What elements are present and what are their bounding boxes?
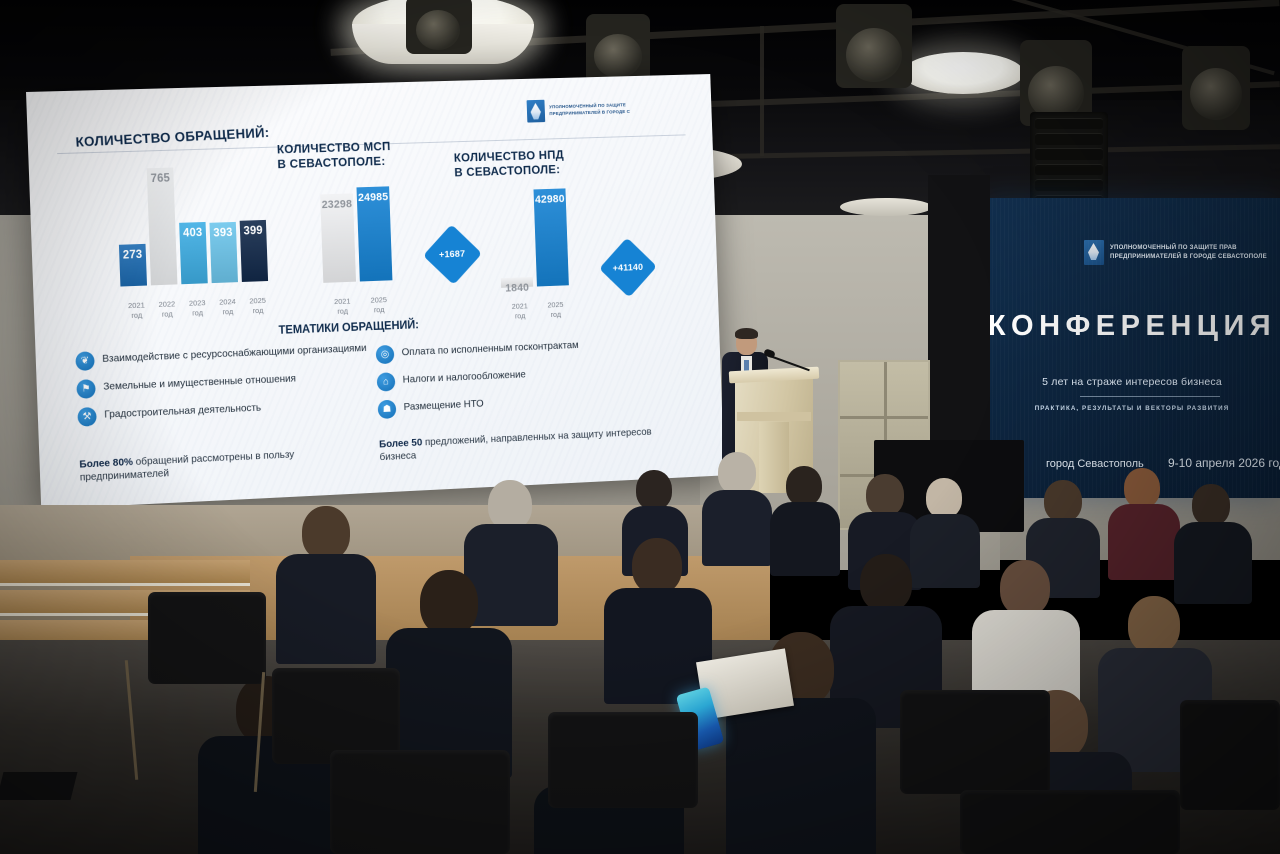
audience-body	[464, 524, 558, 626]
stage-light-5	[1182, 46, 1250, 130]
bar-2021: 1840	[501, 277, 533, 288]
chart-msp: 2329824985 2021год2025год	[320, 183, 440, 316]
chair[interactable]	[548, 712, 698, 808]
audience-body	[276, 554, 376, 664]
bar-xlabel: 2021год	[324, 296, 361, 316]
chart2-title-line2: В СЕВАСТОПОЛЕ:	[277, 154, 391, 172]
topic-item: ⚒Градостроительная деятельность	[77, 394, 399, 427]
led-title: КОНФЕРЕНЦИЯ	[984, 310, 1280, 343]
footnote-left: Более 80% обращений рассмотрены в пользу…	[79, 445, 363, 485]
tax-bank-icon: ⌂	[377, 372, 396, 391]
audience-head	[420, 570, 478, 636]
speaker-cell	[1035, 118, 1104, 130]
floor-mat	[0, 772, 77, 800]
stage-step	[0, 560, 250, 586]
topics-column-left: ❦Взаимодействие с ресурсоснабжающими орг…	[75, 339, 399, 436]
bar-value: 42980	[534, 193, 566, 206]
stage-light-2	[586, 14, 650, 84]
land-plot-icon: ⚑	[76, 379, 95, 399]
audience-body	[1108, 504, 1180, 580]
led-logo-line1: УПОЛНОМОЧЕННЫЙ ПО ЗАЩИТЕ ПРАВ	[1110, 244, 1267, 252]
bar-xlabel: 2025год	[537, 300, 573, 320]
payment-coin-icon: ◎	[376, 345, 395, 364]
ombudsman-emblem-icon	[526, 100, 545, 123]
topics-title: ТЕМАТИКИ ОБРАЩЕНИЙ:	[278, 319, 419, 336]
chair[interactable]	[330, 750, 510, 854]
stage-light-2-lens	[594, 34, 642, 78]
stage-light-5-lens	[1190, 68, 1242, 120]
ombudsman-emblem-icon	[1084, 240, 1104, 265]
topic-item: ☗Размещение НТО	[378, 388, 661, 419]
audience-body	[726, 698, 876, 854]
audience-head	[1128, 596, 1180, 654]
bar-value: 1840	[501, 282, 533, 295]
topic-label: Земельные и имущественные отношения	[103, 371, 296, 394]
kiosk-icon: ☗	[378, 400, 397, 419]
chart2-xlabels: 2021год2025год	[324, 295, 398, 316]
bar-xlabel: 2021год	[502, 301, 538, 321]
audience-head	[1192, 484, 1230, 526]
led-banner-screen: УПОЛНОМОЧЕННЫЙ ПО ЗАЩИТЕ ПРАВ ПРЕДПРИНИМ…	[984, 198, 1280, 498]
audience-head	[926, 478, 962, 518]
bar-xlabel: 2024год	[212, 297, 243, 317]
bar-value: 273	[119, 249, 146, 262]
bar-value: 24985	[357, 191, 390, 204]
audience-head	[786, 466, 822, 506]
led-city: город Севастополь	[1046, 458, 1144, 470]
topic-item: ⌂Налоги и налогообложение	[377, 361, 660, 392]
chart3-xlabels: 2021год2025год	[502, 300, 574, 321]
audience-head	[860, 554, 912, 612]
bar-2025: 399	[240, 220, 268, 282]
topic-label: Градостроительная деятельность	[104, 400, 261, 422]
bar-value: 403	[179, 227, 206, 240]
topic-item: ◎Оплата по исполненным госконтрактам	[376, 334, 659, 364]
led-logo-text: УПОЛНОМОЧЕННЫЙ ПО ЗАЩИТЕ ПРАВ ПРЕДПРИНИМ…	[1110, 244, 1267, 260]
chair[interactable]	[148, 592, 266, 684]
topic-label: Оплата по исполненным госконтрактам	[401, 337, 578, 359]
conference-hall-scene: УПОЛНОМОЧЕННЫЙ ПО ЗАЩИТЕ ПРЕДПРИНИМАТЕЛЕ…	[0, 0, 1280, 854]
speaker-cell	[1035, 148, 1104, 160]
audience-body	[702, 490, 772, 566]
led-logo-line2: ПРЕДПРИНИМАТЕЛЕЙ В ГОРОДЕ СЕВАСТОПОЛЕ	[1110, 253, 1267, 261]
bar-xlabel: 2022год	[151, 299, 182, 319]
bar-xlabel: 2025год	[242, 296, 273, 316]
bar-2025: 42980	[534, 188, 569, 286]
chart3-title-line2: В СЕВАСТОПОЛЕ:	[454, 162, 565, 180]
chart1-bars: 273765403393399	[116, 165, 272, 287]
chart3-title: КОЛИЧЕСТВО НПД В СЕВАСТОПОЛЕ:	[454, 148, 565, 181]
ceiling-truss-vertical	[760, 26, 764, 156]
podium-shelf	[737, 412, 811, 421]
chart3-delta-value: +41140	[613, 262, 644, 274]
audience-head	[1124, 468, 1160, 508]
line-array-speaker	[1030, 112, 1108, 208]
flame-icon: ❦	[75, 351, 94, 371]
stage-light-3	[836, 4, 912, 88]
slide-logo-text: УПОЛНОМОЧЕННЫЙ ПО ЗАЩИТЕ ПРЕДПРИНИМАТЕЛЕ…	[549, 103, 630, 117]
audience-body	[770, 502, 840, 576]
audience-head	[488, 480, 532, 530]
audience-body	[910, 514, 980, 588]
led-tagline: ПРАКТИКА, РЕЗУЛЬТАТЫ И ВЕКТОРЫ РАЗВИТИЯ	[984, 405, 1280, 412]
bar-2023: 403	[179, 222, 208, 284]
footnote-right-bold: Более 50	[379, 438, 422, 451]
topics-column-right: ◎Оплата по исполненным госконтрактам⌂Нал…	[376, 334, 662, 428]
bar-value: 765	[147, 172, 174, 185]
stage-light-3-lens	[846, 28, 902, 82]
stage-light-1-lens	[416, 10, 460, 50]
chart2-title: КОЛИЧЕСТВО МСП В СЕВАСТОПОЛЕ:	[277, 139, 392, 172]
topic-label: Размещение НТО	[403, 396, 483, 414]
podium-column	[759, 422, 789, 493]
chart1-xlabels: 2021год2022год2023год2024год2025год	[121, 296, 273, 321]
led-divider	[1080, 396, 1220, 397]
chair[interactable]	[960, 790, 1180, 854]
led-logo: УПОЛНОМОЧЕННЫЙ ПО ЗАЩИТЕ ПРАВ ПРЕДПРИНИМ…	[1084, 240, 1267, 265]
speaker-hair	[735, 328, 758, 339]
ceiling-round-light-5	[840, 198, 932, 216]
chair[interactable]	[1180, 700, 1280, 810]
bar-xlabel: 2023год	[182, 298, 213, 318]
chart2-bars: 2329824985	[320, 186, 396, 283]
bar-2024: 393	[209, 222, 237, 283]
speaker-cell	[1035, 164, 1104, 176]
audience-body	[604, 588, 712, 704]
bar-value: 23298	[320, 199, 353, 212]
footnote-left-bold: Более 80%	[79, 457, 133, 470]
chart3-bars: 184042980	[498, 188, 573, 288]
audience-head	[1044, 480, 1082, 522]
speaker-cell	[1035, 133, 1104, 145]
audience-head	[718, 452, 756, 494]
topic-item: ⚑Земельные и имущественные отношения	[76, 366, 398, 399]
projection-screen: УПОЛНОМОЧЕННЫЙ ПО ЗАЩИТЕ ПРЕДПРИНИМАТЕЛЕ…	[26, 74, 724, 509]
audience-head	[302, 506, 350, 560]
ceiling-round-light-2	[902, 52, 1024, 94]
construction-crane-icon: ⚒	[77, 407, 96, 427]
bar-xlabel: 2021год	[121, 300, 152, 320]
bar-value: 393	[210, 227, 237, 240]
footnote-right: Более 50 предложений, направленных на за…	[379, 425, 663, 465]
bar-2021: 273	[119, 244, 147, 287]
audience-body	[1174, 522, 1252, 604]
led-subtitle: 5 лет на страже интересов бизнеса	[984, 376, 1280, 388]
audience-head	[866, 474, 904, 516]
bar-2025: 24985	[356, 186, 392, 281]
dark-wall-column	[928, 175, 990, 475]
chair[interactable]	[900, 690, 1050, 794]
topic-label: Взаимодействие с ресурсоснабжающими орга…	[102, 340, 367, 366]
topic-item: ❦Взаимодействие с ресурсоснабжающими орг…	[75, 339, 397, 371]
bar-xlabel: 2025год	[360, 295, 397, 315]
led-date: 9-10 апреля 2026 года	[1168, 456, 1280, 470]
slide-logo: УПОЛНОМОЧЕННЫЙ ПО ЗАЩИТЕ ПРЕДПРИНИМАТЕЛЕ…	[526, 97, 630, 122]
speaker-cell	[1035, 179, 1104, 191]
topic-label: Налоги и налогообложение	[402, 367, 526, 387]
chart-obrashcheniy: 273765403393399 2021год2022год2023год202…	[116, 166, 287, 320]
bar-2022: 765	[147, 167, 178, 285]
presentation-slide: УПОЛНОМОЧЕННЫЙ ПО ЗАЩИТЕ ПРЕДПРИНИМАТЕЛЕ…	[26, 74, 724, 509]
bar-2021: 23298	[320, 194, 356, 283]
audience-head	[636, 470, 672, 510]
stage-light-1	[406, 0, 472, 54]
bar-value: 399	[240, 225, 267, 238]
chart2-delta-value: +1687	[439, 249, 466, 261]
audience-head	[632, 538, 682, 594]
chart-npd: 184042980 2021год2025год	[498, 191, 615, 321]
audience-head	[1000, 560, 1050, 616]
